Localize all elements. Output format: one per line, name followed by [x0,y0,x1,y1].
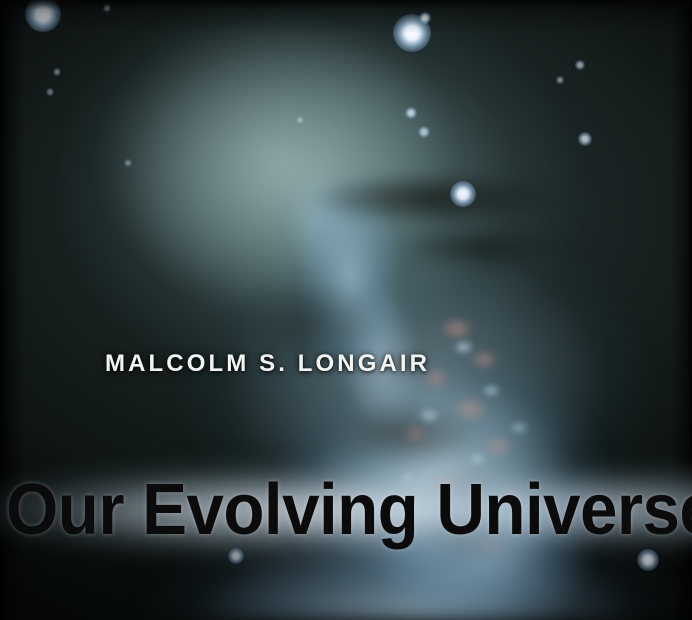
star-upper-mid-tiny-icon [296,116,303,123]
star-right-low-icon [578,132,592,146]
star-low-left-tiny-icon [124,159,131,166]
star-bottom-left-glow-icon [228,548,245,565]
star-upper-right-bright-icon [393,14,431,52]
star-right-faint-icon [575,60,585,70]
star-mid-right-icon [450,181,476,207]
star-lower-right-icon [637,549,659,571]
star-mid-left-faint-icon [405,107,417,119]
star-left-mid-tiny-icon [46,88,53,95]
star-upper-right-small-icon [419,12,431,24]
star-center-tiny-icon [556,76,563,83]
star-top-mid-tiny-icon [103,4,110,11]
author-name: MALCOLM S. LONGAIR [105,350,430,378]
star-mid-faint-icon [418,126,430,138]
book-title: Our Evolving Universe [6,474,692,546]
star-left-tiny-icon [53,68,60,75]
star-top-left-bright-icon [25,0,61,32]
book-cover: MALCOLM S. LONGAIR Our Evolving Universe [0,0,692,620]
